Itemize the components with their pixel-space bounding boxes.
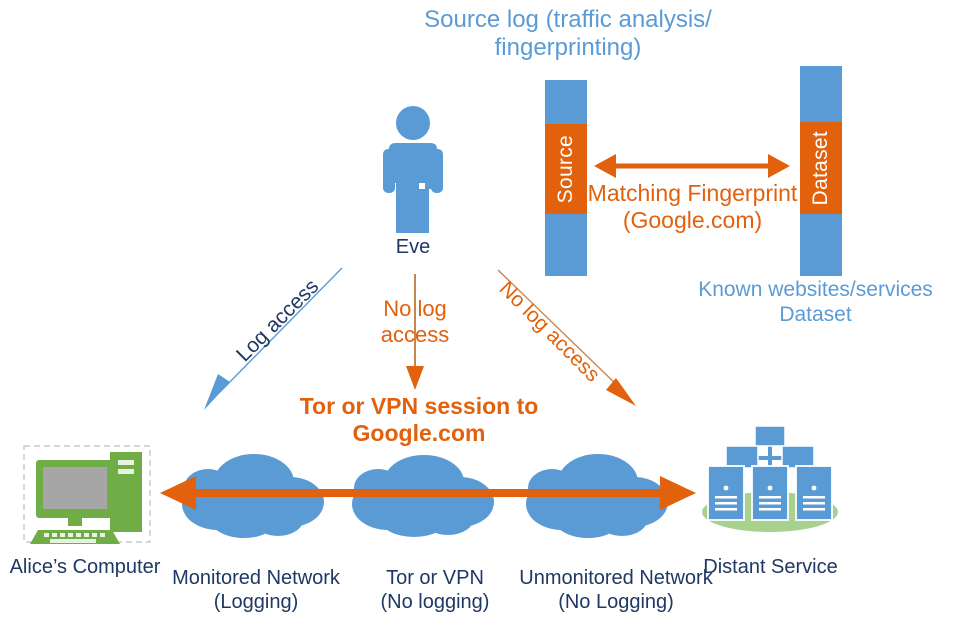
source-bar: Source	[545, 80, 587, 276]
eve-label: Eve	[373, 236, 453, 260]
alice-computer-label: Alice’s Computer	[0, 556, 170, 580]
session-heading: Tor or VPN session to Google.com	[278, 393, 560, 447]
source-bar-top-segment	[545, 80, 587, 124]
source-bar-highlight: Source	[545, 124, 587, 214]
cloud-label-tor-vpn: Tor or VPN (No logging)	[355, 567, 515, 614]
dataset-bar-label: Dataset	[809, 131, 833, 205]
center-no-log-access-label: No log access	[358, 296, 472, 348]
dataset-bar-highlight: Dataset	[800, 122, 842, 214]
person-icon	[375, 105, 451, 237]
double-arrow-icon	[158, 474, 698, 512]
source-bar-label: Source	[554, 135, 578, 203]
source-log-title: Source log (traffic analysis/ fingerprin…	[398, 6, 738, 63]
cloud-label-monitored-network: Monitored Network (Logging)	[163, 567, 349, 614]
dataset-caption: Known websites/services Dataset	[673, 278, 957, 328]
cloud-label-unmonitored-network: Unmonitored Network (No Logging)	[516, 567, 716, 614]
computer-icon	[22, 444, 152, 548]
dataset-bar-bottom-segment	[800, 214, 842, 276]
matching-fingerprint-double-arrow	[592, 148, 792, 184]
matching-fingerprint-label: Matching Fingerprint (Google.com)	[585, 180, 800, 234]
server-stack-icon	[700, 420, 840, 532]
dataset-bar-top-segment	[800, 66, 842, 122]
diagram-canvas: Source log (traffic analysis/ fingerprin…	[0, 0, 957, 630]
dataset-bar: Dataset	[800, 66, 842, 276]
